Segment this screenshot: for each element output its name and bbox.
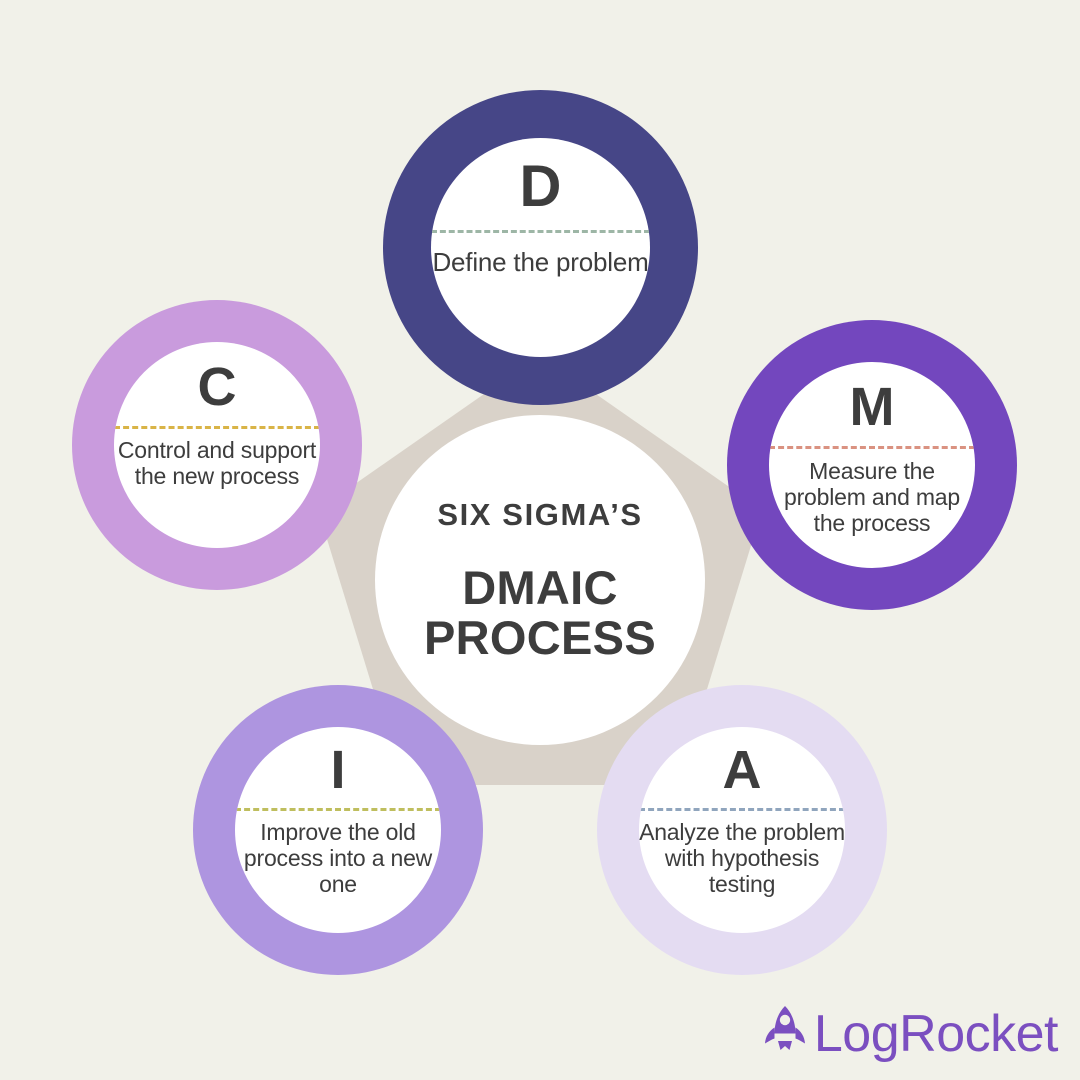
center-eyebrow-text: SIX SIGMA’S (437, 497, 642, 533)
step-letter-define: D (520, 158, 562, 216)
step-description-control: Control and support the new process (114, 438, 320, 490)
step-divider-improve (235, 808, 441, 811)
step-circle-analyze: A Analyze the problem with hypothesis te… (597, 685, 887, 975)
rocket-icon (762, 1005, 808, 1062)
step-letter-control: C (198, 360, 237, 414)
step-description-define: Define the problem (432, 248, 648, 277)
step-divider-define (431, 230, 650, 233)
step-divider-analyze (639, 808, 845, 811)
step-content-improve: I Improve the old process into a new one (235, 727, 441, 933)
step-letter-improve: I (330, 743, 345, 797)
step-description-improve: Improve the old process into a new one (235, 820, 441, 897)
step-letter-analyze: A (723, 743, 762, 797)
step-content-measure: M Measure the problem and map the proces… (769, 362, 975, 568)
logrocket-logo: LogRocket (762, 1005, 1058, 1062)
step-circle-improve: I Improve the old process into a new one (193, 685, 483, 975)
step-circle-define: D Define the problem (383, 90, 698, 405)
step-circle-measure: M Measure the problem and map the proces… (727, 320, 1017, 610)
step-circle-control: C Control and support the new process (72, 300, 362, 590)
center-hub: SIX SIGMA’S DMAIC PROCESS (375, 415, 705, 745)
step-description-measure: Measure the problem and map the process (769, 459, 975, 536)
logo-wordmark: LogRocket (814, 1008, 1058, 1060)
step-divider-measure (769, 446, 975, 449)
step-content-control: C Control and support the new process (114, 342, 320, 548)
step-content-analyze: A Analyze the problem with hypothesis te… (639, 727, 845, 933)
infographic-canvas: D Define the problem M Measure the probl… (0, 0, 1080, 1080)
step-content-define: D Define the problem (431, 138, 650, 357)
step-letter-measure: M (850, 380, 895, 434)
step-divider-control (114, 426, 320, 429)
step-description-analyze: Analyze the problem with hypothesis test… (639, 820, 845, 897)
center-title-text: DMAIC PROCESS (375, 563, 705, 663)
